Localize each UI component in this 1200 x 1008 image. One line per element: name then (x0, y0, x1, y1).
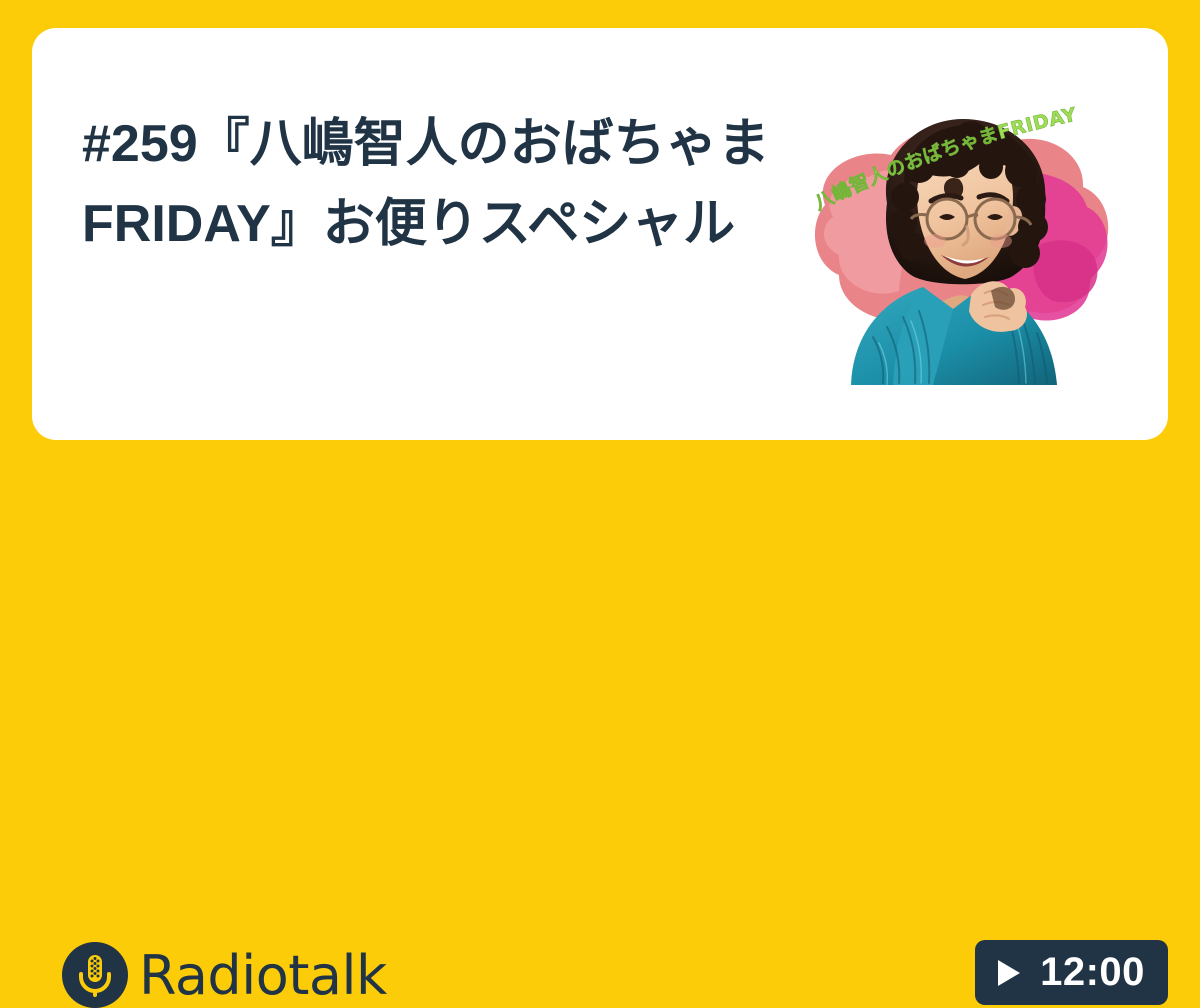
play-icon[interactable] (998, 960, 1020, 986)
microphone-icon (62, 942, 128, 1008)
episode-card[interactable]: #259『八嶋智人のおばちゃまFRIDAY』お便りスペシャル (32, 28, 1168, 440)
duration-label: 12:00 (1040, 952, 1145, 992)
episode-card-content: #259『八嶋智人のおばちゃまFRIDAY』お便りスペシャル (32, 28, 1168, 440)
footer-bar: Radiotalk 12:00 (0, 440, 1200, 630)
episode-title-container: #259『八嶋智人のおばちゃまFRIDAY』お便りスペシャル (82, 104, 782, 264)
program-artwork: 八嶋智人のおばちゃまFRIDAY (795, 95, 1125, 385)
brand-name: Radiotalk (139, 949, 387, 1003)
page-title: #259『八嶋智人のおばちゃまFRIDAY』お便りスペシャル (82, 104, 782, 264)
radiotalk-brand[interactable]: Radiotalk (62, 942, 387, 1008)
play-duration-badge[interactable]: 12:00 (975, 940, 1168, 1005)
